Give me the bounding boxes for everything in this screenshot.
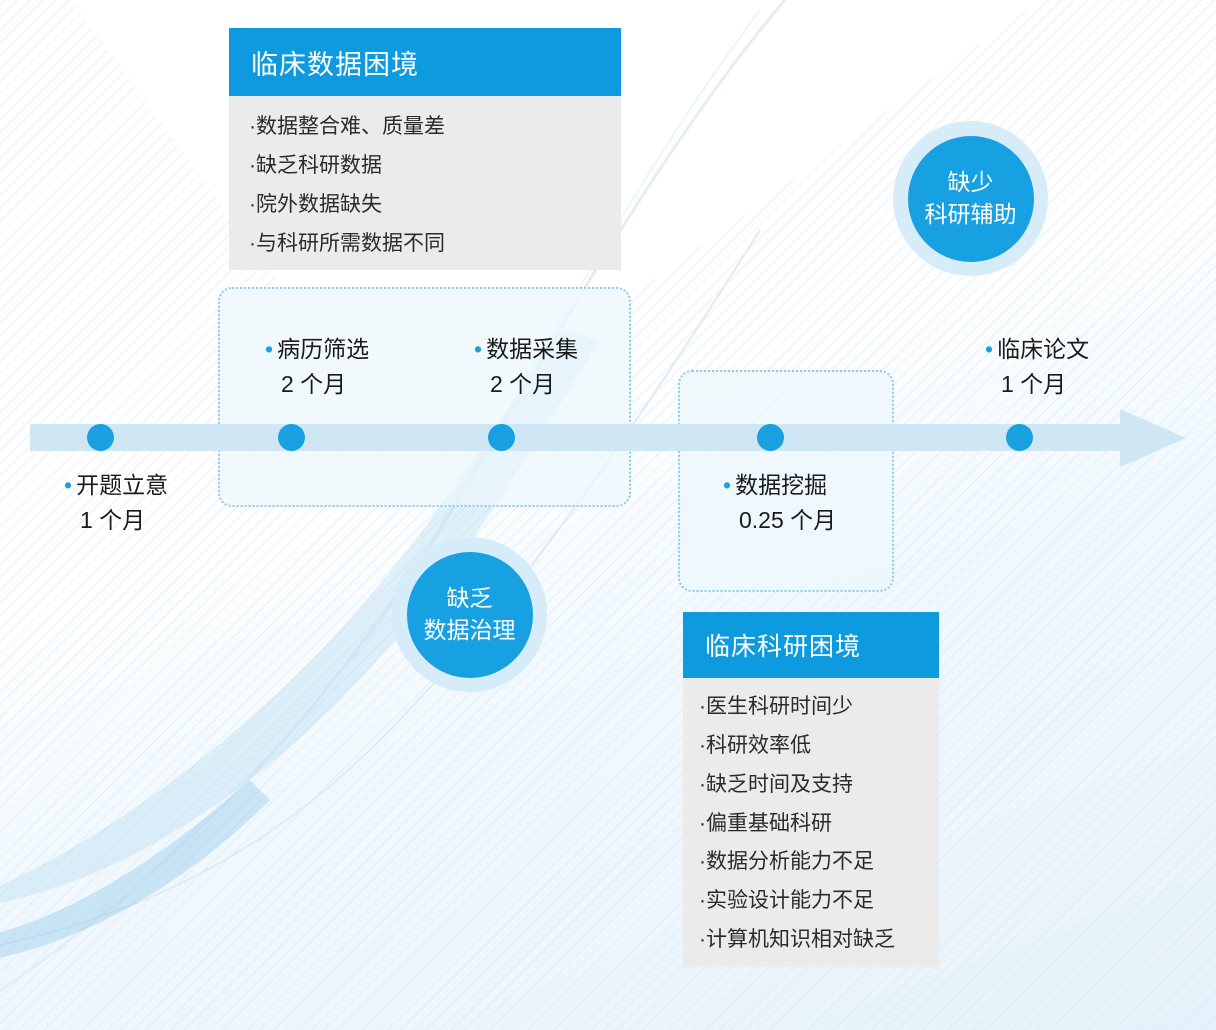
timeline-dot-5[interactable] <box>1006 424 1033 451</box>
milestone-1-title-row: •开题立意 <box>64 468 168 503</box>
milestone-5-duration: 1 个月 <box>1001 367 1089 402</box>
milestone-5-label: 临床论文 <box>997 336 1089 362</box>
card-clinical-research-problems: 临床科研困境 ·医生科研时间少 ·科研效率低 ·缺乏时间及支持 ·偏重基础科研 … <box>683 612 939 967</box>
badge-missing-data-governance-line2: 数据治理 <box>424 615 516 646</box>
card-clinical-data-problems-title: 临床数据困境 <box>229 28 621 96</box>
badge-missing-research-support-inner: 缺少 科研辅助 <box>908 136 1034 262</box>
badge-missing-research-support-line2: 科研辅助 <box>925 199 1017 230</box>
list-item: ·医生科研时间少 <box>699 688 923 727</box>
milestone-1[interactable]: •开题立意 1 个月 <box>64 468 168 537</box>
milestone-1-label: 开题立意 <box>76 472 168 498</box>
list-item: ·偏重基础科研 <box>699 805 923 844</box>
milestone-4-label: 数据挖掘 <box>735 472 827 498</box>
milestone-2-label: 病历筛选 <box>277 336 369 362</box>
milestone-3[interactable]: •数据采集 2 个月 <box>474 332 578 401</box>
bullet-icon: • <box>474 336 482 362</box>
milestone-3-title-row: •数据采集 <box>474 332 578 367</box>
list-item: ·科研效率低 <box>699 727 923 766</box>
badge-missing-research-support[interactable]: 缺少 科研辅助 <box>893 121 1048 276</box>
slide-canvas: •开题立意 1 个月 •病历筛选 2 个月 •数据采集 2 个月 •数据挖掘 0… <box>0 0 1216 1030</box>
badge-missing-data-governance[interactable]: 缺乏 数据治理 <box>392 537 547 692</box>
timeline-dot-2[interactable] <box>278 424 305 451</box>
bullet-icon: • <box>723 472 731 498</box>
badge-missing-research-support-line1: 缺少 <box>948 167 994 198</box>
milestone-2-title-row: •病历筛选 <box>265 332 369 367</box>
card-clinical-data-problems-body: ·数据整合难、质量差 ·缺乏科研数据 ·院外数据缺失 ·与科研所需数据不同 <box>229 96 621 281</box>
milestone-4-title-row: •数据挖掘 <box>723 468 836 503</box>
milestone-3-label: 数据采集 <box>486 336 578 362</box>
bullet-icon: • <box>265 336 273 362</box>
timeline-arrow-icon <box>1120 409 1186 467</box>
list-item: ·缺乏科研数据 <box>249 147 601 186</box>
bullet-icon: • <box>64 472 72 498</box>
card-clinical-research-problems-body: ·医生科研时间少 ·科研效率低 ·缺乏时间及支持 ·偏重基础科研 ·数据分析能力… <box>683 678 939 974</box>
milestone-5-title-row: •临床论文 <box>985 332 1089 367</box>
timeline-dot-4[interactable] <box>757 424 784 451</box>
list-item: ·院外数据缺失 <box>249 186 601 225</box>
badge-missing-data-governance-line1: 缺乏 <box>447 583 493 614</box>
milestone-1-duration: 1 个月 <box>80 503 168 538</box>
list-item: ·计算机知识相对缺乏 <box>699 921 923 960</box>
list-item: ·实验设计能力不足 <box>699 882 923 921</box>
list-item: ·缺乏时间及支持 <box>699 766 923 805</box>
timeline-bar <box>30 424 1150 451</box>
timeline-dot-3[interactable] <box>488 424 515 451</box>
card-clinical-data-problems: 临床数据困境 ·数据整合难、质量差 ·缺乏科研数据 ·院外数据缺失 ·与科研所需… <box>229 28 621 270</box>
card-clinical-research-problems-title: 临床科研困境 <box>683 612 939 678</box>
milestone-5[interactable]: •临床论文 1 个月 <box>985 332 1089 401</box>
bullet-icon: • <box>985 336 993 362</box>
milestone-4-duration: 0.25 个月 <box>739 503 836 538</box>
milestone-4[interactable]: •数据挖掘 0.25 个月 <box>723 468 836 537</box>
list-item: ·数据整合难、质量差 <box>249 108 601 147</box>
timeline-dot-1[interactable] <box>87 424 114 451</box>
list-item: ·数据分析能力不足 <box>699 843 923 882</box>
milestone-2[interactable]: •病历筛选 2 个月 <box>265 332 369 401</box>
milestone-3-duration: 2 个月 <box>490 367 578 402</box>
milestone-2-duration: 2 个月 <box>281 367 369 402</box>
badge-missing-data-governance-inner: 缺乏 数据治理 <box>407 552 533 678</box>
list-item: ·与科研所需数据不同 <box>249 225 601 264</box>
